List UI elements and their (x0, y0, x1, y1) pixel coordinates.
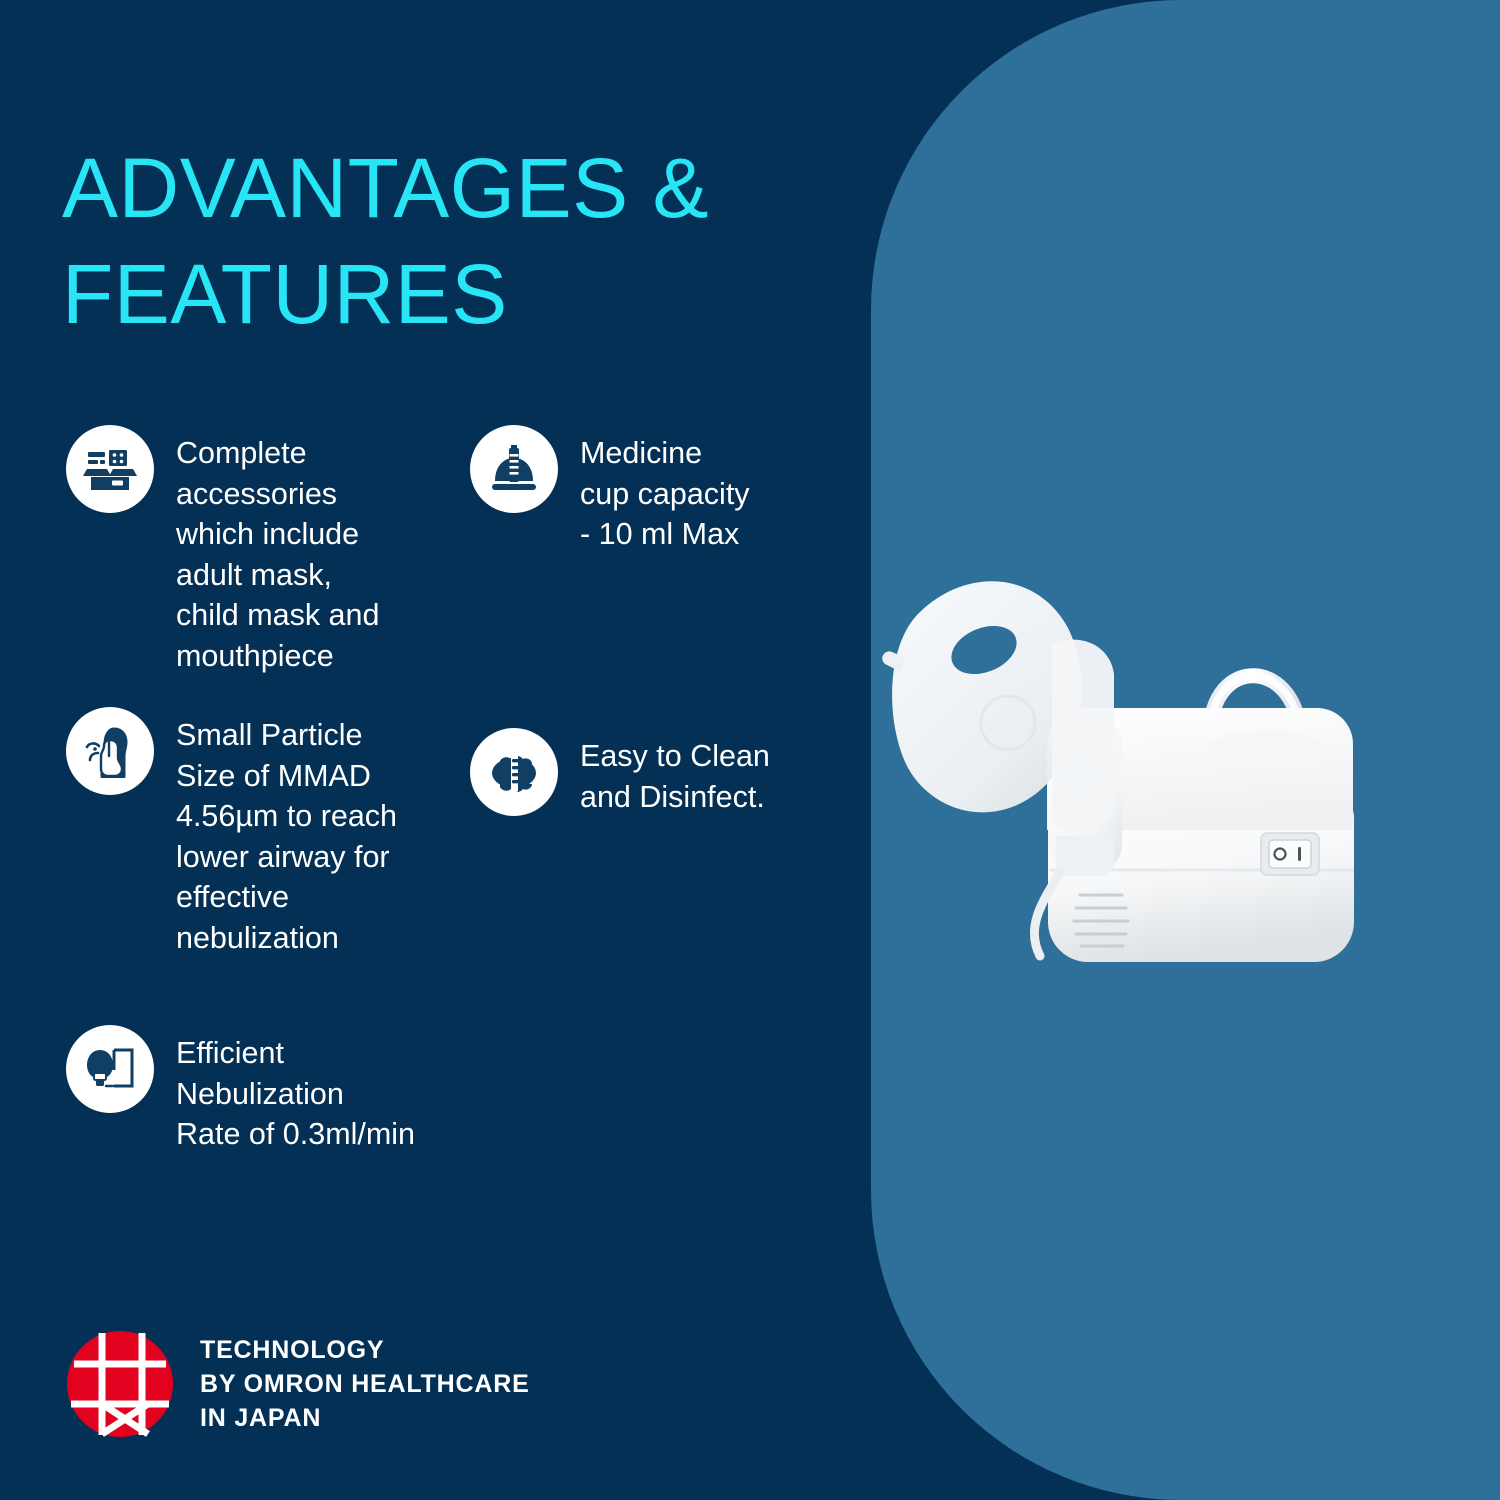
medicine-cup-icon (470, 425, 558, 513)
feature-item-accessories: Complete accessories which include adult… (66, 425, 446, 676)
feature-label-accessories: Complete accessories which include adult… (176, 425, 379, 676)
hand-washing-brush-icon (470, 728, 558, 816)
omron-red-circle-grid-logo (66, 1330, 174, 1438)
product-image-compressor-nebulizer (880, 540, 1380, 1010)
head-lungs-particle-icon (66, 707, 154, 795)
feature-item-easy-clean: Easy to Clean and Disinfect. (470, 728, 830, 817)
infographic-page: ADVANTAGES & FEATURES Complete accessori… (0, 0, 1500, 1500)
feature-item-nebulization-rate: Efficient Nebulization Rate of 0.3ml/min (66, 1025, 446, 1155)
brand-tagline: TECHNOLOGY BY OMRON HEALTHCARE IN JAPAN (200, 1333, 530, 1435)
feature-label-easy-clean: Easy to Clean and Disinfect. (580, 728, 770, 817)
feature-label-nebulization-rate: Efficient Nebulization Rate of 0.3ml/min (176, 1025, 415, 1155)
brand-footer: TECHNOLOGY BY OMRON HEALTHCARE IN JAPAN (66, 1330, 530, 1438)
page-title: ADVANTAGES & FEATURES (62, 136, 822, 348)
switch-on-mark (1298, 847, 1301, 861)
power-switch (1261, 833, 1319, 875)
feature-label-medicine-cup: Medicine cup capacity - 10 ml Max (580, 425, 750, 555)
feature-item-medicine-cup: Medicine cup capacity - 10 ml Max (470, 425, 830, 555)
feature-item-particle-size: Small Particle Size of MMAD 4.56µm to re… (66, 707, 446, 958)
nebulizer-spray-icon (66, 1025, 154, 1113)
open-box-accessories-icon (66, 425, 154, 513)
feature-label-particle-size: Small Particle Size of MMAD 4.56µm to re… (176, 707, 397, 958)
